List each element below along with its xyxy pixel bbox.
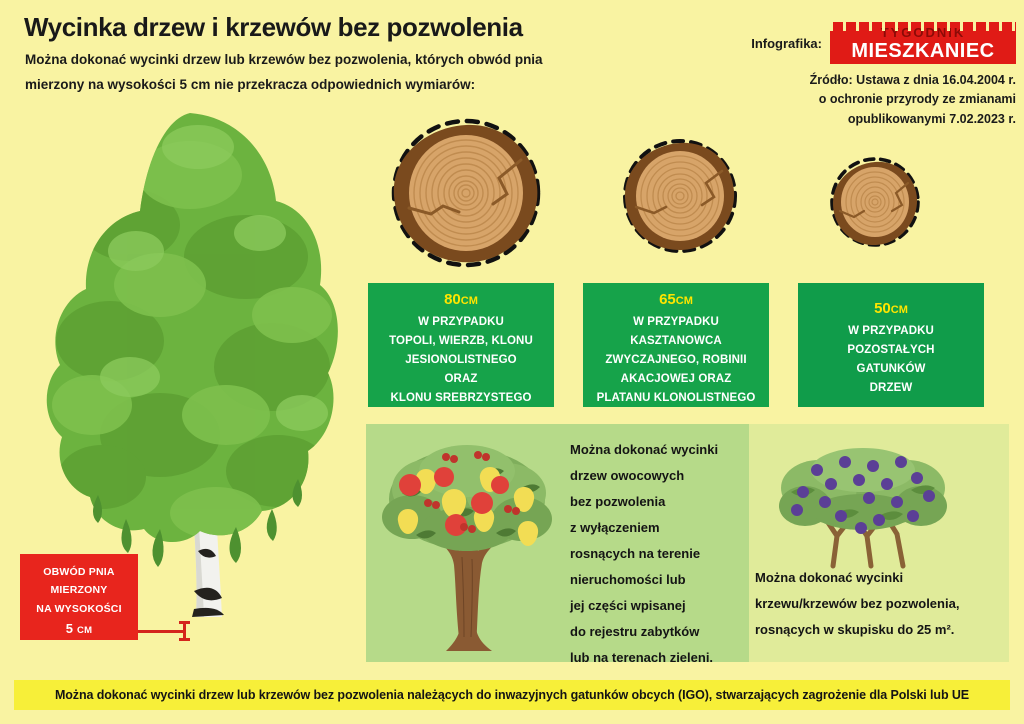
- category-value-0: 80CM: [374, 291, 548, 308]
- callout-line-1: OBWÓD PNIA: [20, 563, 138, 581]
- log-slice-medium: [618, 135, 742, 257]
- credit-label: Infografika:: [751, 36, 822, 51]
- subtitle-line-2: mierzony na wysokości 5 cm nie przekracz…: [25, 73, 605, 98]
- footer-text: Można dokonać wycinki drzew lub krzewów …: [55, 688, 969, 702]
- source-line-2: o ochronie przyrody ze zmianami: [726, 90, 1016, 109]
- log-slice-large: [381, 116, 551, 271]
- callout-value: 5 CM: [20, 618, 138, 641]
- credit-block: Infografika: TYGODNIK MIESZKANIEC Źródło…: [726, 22, 1016, 129]
- logo-main-text: MIESZKANIEC: [830, 41, 1016, 63]
- category-line: GATUNKÓW: [804, 360, 978, 379]
- category-line: ORAZ: [374, 370, 548, 389]
- category-line: W PRZYPADKU: [804, 322, 978, 341]
- category-line: POZOSTAŁYCH: [804, 341, 978, 360]
- fruit-panel-text: Można dokonać wycinki drzew owocowych be…: [570, 437, 750, 671]
- log-slice-small: [826, 155, 924, 250]
- category-box-65cm: 65CM W PRZYPADKU KASZTANOWCA ZWYCZAJNEGO…: [583, 283, 769, 407]
- infographic-canvas: Wycinka drzew i krzewów bez pozwolenia M…: [0, 0, 1024, 724]
- mieszkaniec-logo: TYGODNIK MIESZKANIEC: [830, 22, 1016, 64]
- category-line: TOPOLI, WIERZB, KLONU: [374, 332, 548, 351]
- fruit-text-line: jej części wpisanej: [570, 593, 750, 619]
- source-line-1: Źródło: Ustawa z dnia 16.04.2004 r.: [726, 71, 1016, 90]
- category-line: AKACJOWEJ ORAZ: [589, 370, 763, 389]
- fruit-text-line: nieruchomości lub: [570, 567, 750, 593]
- category-box-80cm: 80CM W PRZYPADKU TOPOLI, WIERZB, KLONU J…: [368, 283, 554, 407]
- category-line: DRZEW: [804, 379, 978, 398]
- page-subtitle: Można dokonać wycinki drzew lub krzewów …: [25, 48, 605, 98]
- berry-bush-illustration: [775, 440, 950, 570]
- category-line: KASZTANOWCA: [589, 332, 763, 351]
- footer-banner: Można dokonać wycinki drzew lub krzewów …: [14, 680, 1010, 710]
- bush-panel-text: Można dokonać wycinki krzewu/krzewów bez…: [755, 565, 1005, 643]
- category-line: W PRZYPADKU: [374, 313, 548, 332]
- fruit-text-line: rosnących na terenie: [570, 541, 750, 567]
- fruit-text-line: bez pozwolenia: [570, 489, 750, 515]
- bush-text-line: Można dokonać wycinki: [755, 565, 1005, 591]
- bush-text-line: rosnących w skupisku do 25 m².: [755, 617, 1005, 643]
- category-line: PLATANU KLONOLISTNEGO: [589, 389, 763, 408]
- fruit-text-line: drzew owocowych: [570, 463, 750, 489]
- page-title: Wycinka drzew i krzewów bez pozwolenia: [24, 12, 523, 43]
- callout-leader-line: [138, 630, 186, 633]
- logo-teeth-decoration: [830, 22, 1016, 31]
- fruit-tree-illustration: [372, 437, 562, 659]
- category-box-50cm: 50CM W PRZYPADKU POZOSTAŁYCH GATUNKÓW DR…: [798, 283, 984, 407]
- subtitle-line-1: Można dokonać wycinki drzew lub krzewów …: [25, 48, 605, 73]
- callout-line-3: NA WYSOKOŚCI: [20, 600, 138, 618]
- trunk-measure-callout: OBWÓD PNIA MIERZONY NA WYSOKOŚCI 5 CM: [20, 554, 138, 640]
- bush-text-line: krzewu/krzewów bez pozwolenia,: [755, 591, 1005, 617]
- fruit-text-line: lub na terenach zieleni.: [570, 645, 750, 671]
- category-line: ZWYCZAJNEGO, ROBINII: [589, 351, 763, 370]
- fruit-text-line: z wyłączeniem: [570, 515, 750, 541]
- category-line: JESIONOLISTNEGO: [374, 351, 548, 370]
- source-line-3: opublikowanymi 7.02.2023 r.: [726, 110, 1016, 129]
- category-line: KLONU SREBRZYSTEGO: [374, 389, 548, 408]
- fruit-text-line: Można dokonać wycinki: [570, 437, 750, 463]
- category-value-1: 65CM: [589, 291, 763, 308]
- infographic-credit-row: Infografika: TYGODNIK MIESZKANIEC: [726, 22, 1016, 64]
- fruit-text-line: do rejestru zabytków: [570, 619, 750, 645]
- source-note: Źródło: Ustawa z dnia 16.04.2004 r. o oc…: [726, 71, 1016, 129]
- callout-line-2: MIERZONY: [20, 581, 138, 599]
- category-line: W PRZYPADKU: [589, 313, 763, 332]
- callout-height-marker: [183, 621, 186, 641]
- category-value-2: 50CM: [804, 300, 978, 317]
